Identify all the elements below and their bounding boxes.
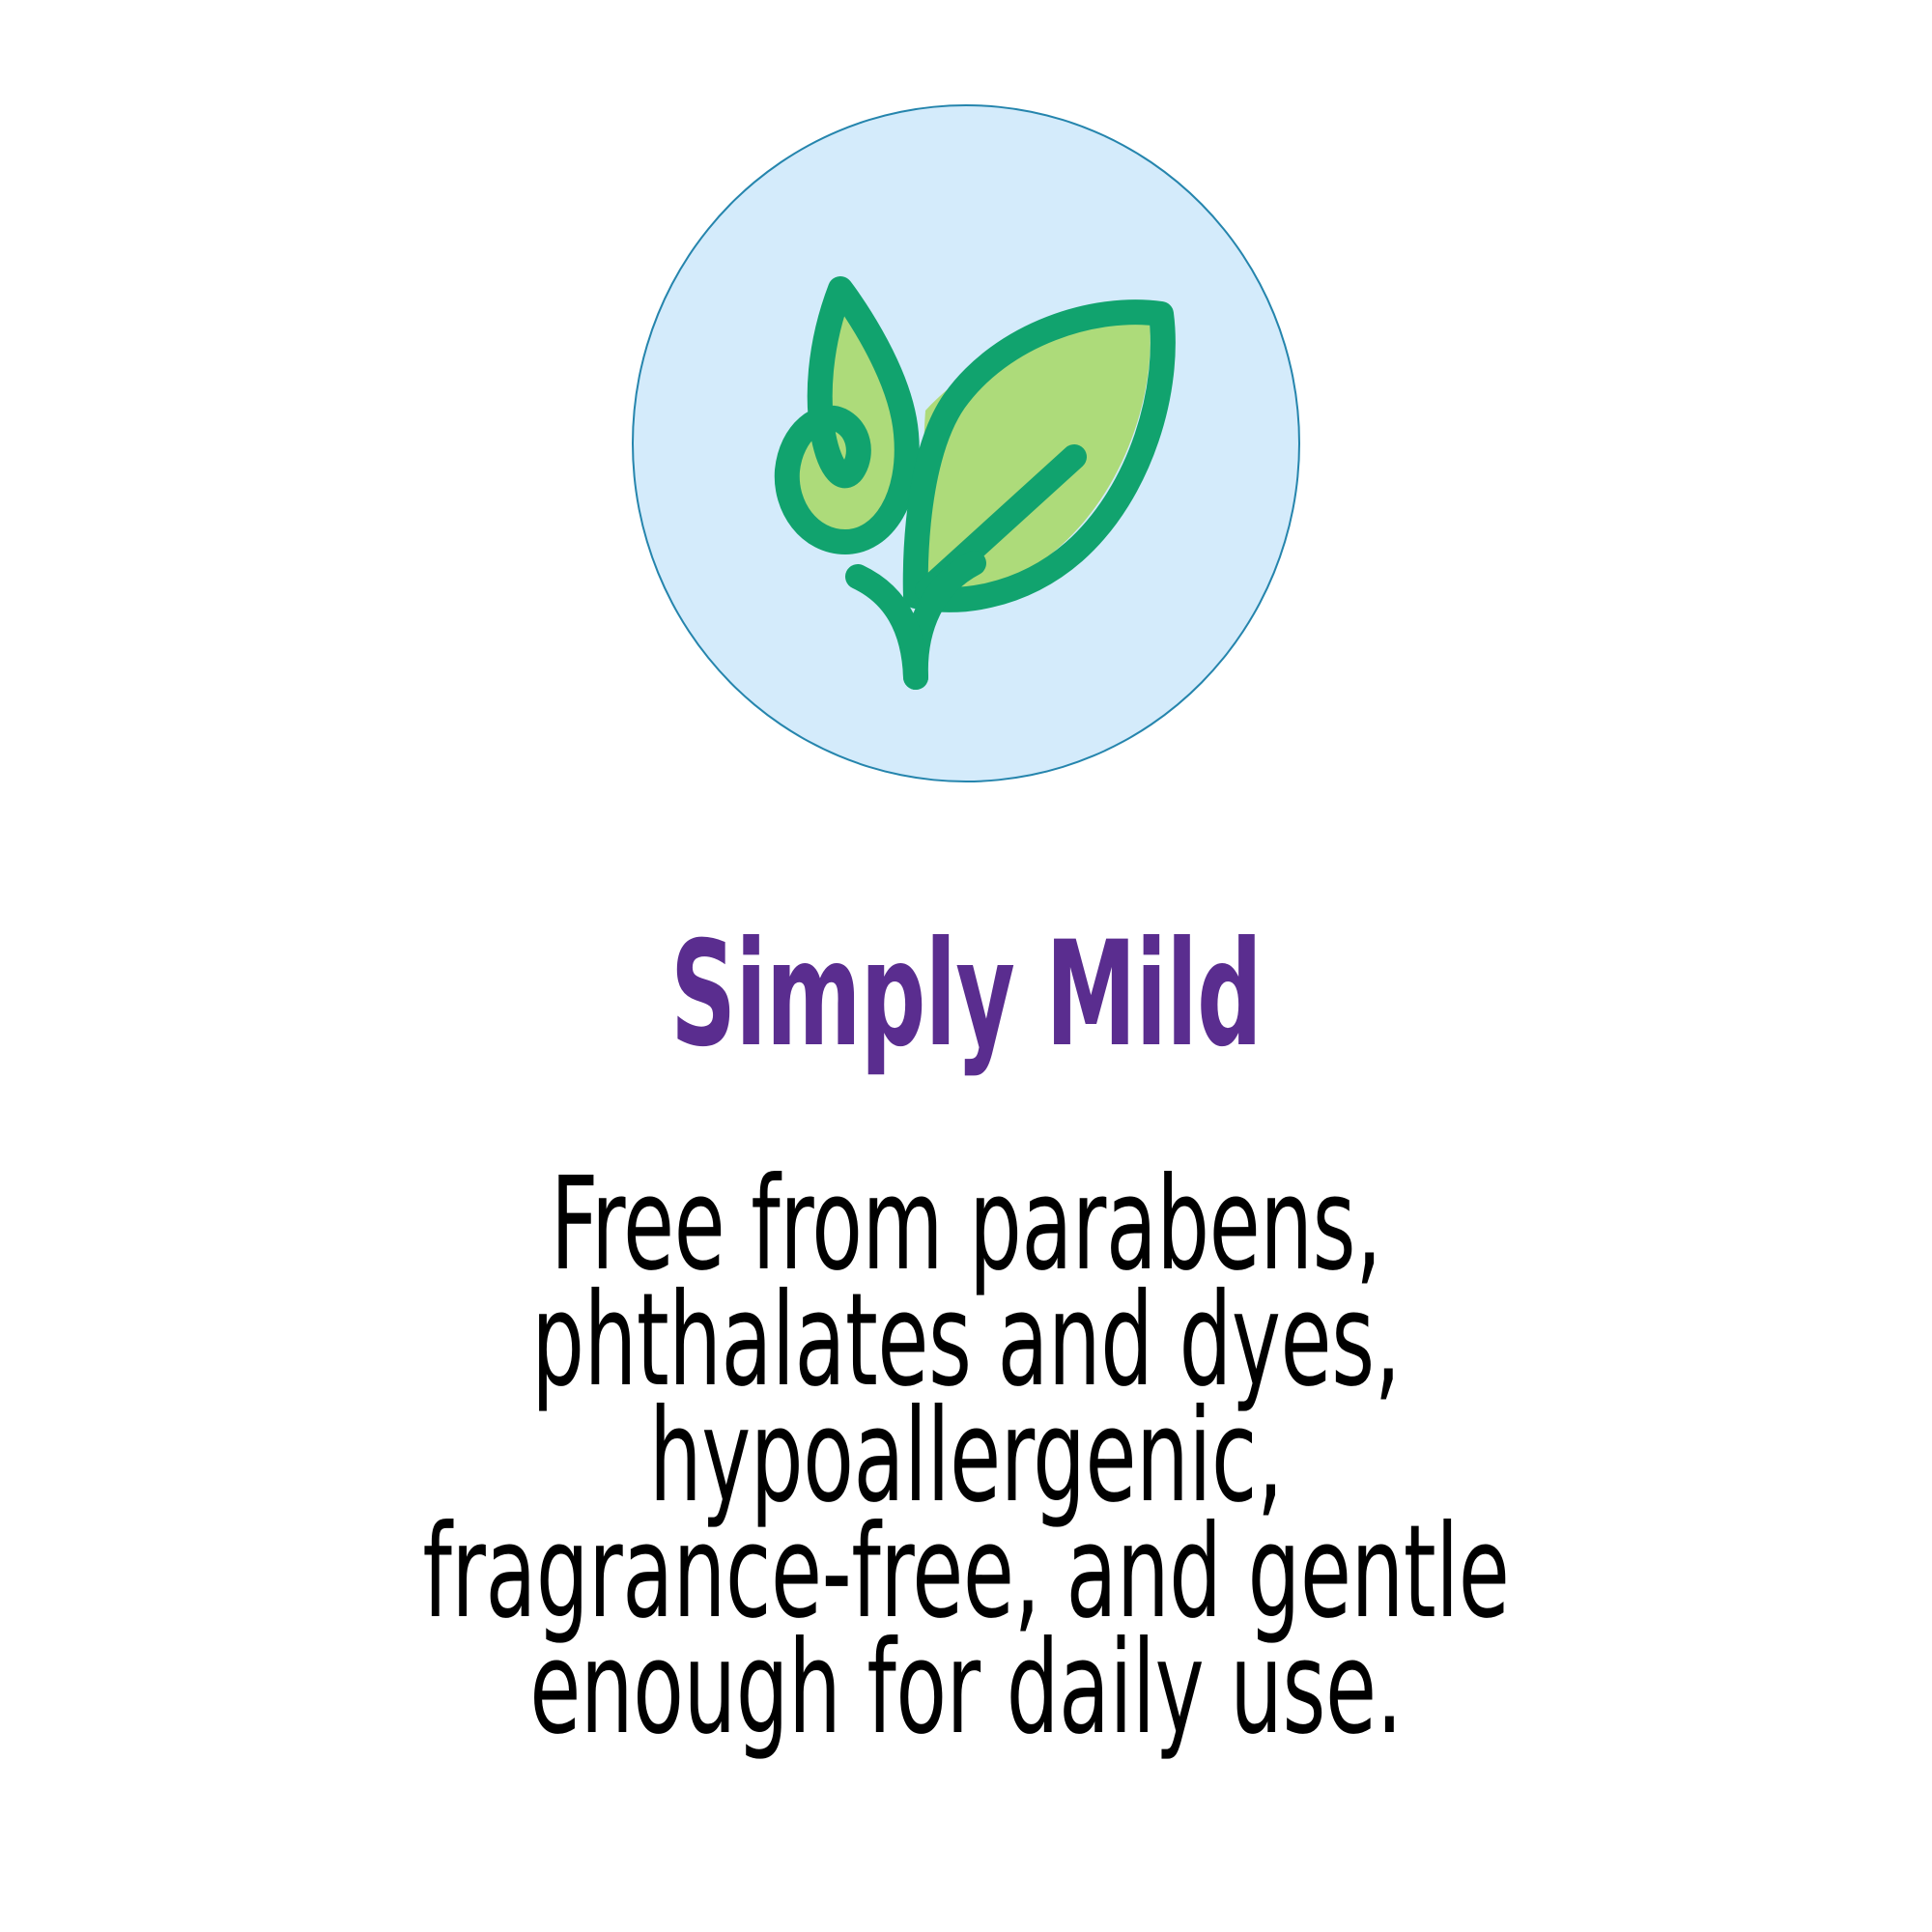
claim-line: hypoallergenic, <box>270 1399 1662 1515</box>
claim-line: enough for daily use. <box>270 1631 1662 1747</box>
badge-circle <box>632 104 1300 782</box>
product-claim-card: Simply Mild Free from parabens, phthalat… <box>0 0 1932 1932</box>
claim-description: Free from parabens, phthalates and dyes,… <box>270 1167 1662 1747</box>
claim-line: phthalates and dyes, <box>270 1283 1662 1399</box>
claim-line: Free from parabens, <box>270 1167 1662 1283</box>
two-leaf-sprout-icon <box>696 173 1236 714</box>
claim-line: fragrance-free, and gentle <box>270 1515 1662 1631</box>
page-title: Simply Mild <box>290 920 1642 1072</box>
badge-container <box>0 104 1932 786</box>
